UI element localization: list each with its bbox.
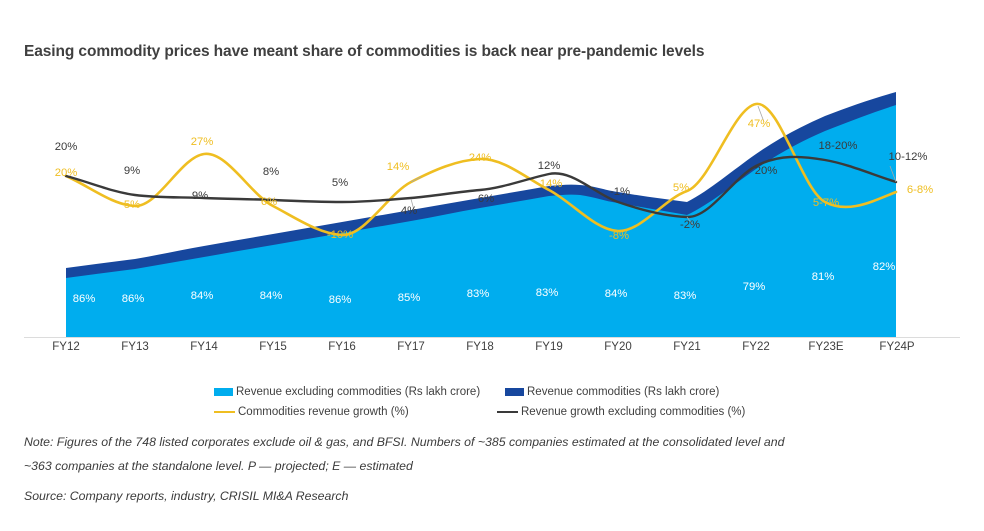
axis-tick-fy17: FY17 [397, 341, 425, 353]
axis-tick-fy24p: FY24P [879, 341, 914, 353]
legend-label: Commodities revenue growth (%) [238, 406, 409, 418]
chart-svg [0, 78, 984, 368]
page-title: Easing commodity prices have meant share… [24, 43, 704, 61]
axis-tick-fy20: FY20 [604, 341, 632, 353]
legend-item-revenue-growth-excluding-commodities[interactable]: Revenue growth excluding commodities (%) [497, 406, 745, 418]
legend-item-revenue-commodities[interactable]: Revenue commodities (Rs lakh crore) [505, 386, 719, 398]
chart-page: Easing commodity prices have meant share… [0, 0, 984, 531]
axis-tick-fy18: FY18 [466, 341, 494, 353]
legend-line-dark-icon [497, 411, 518, 413]
legend-label: Revenue excluding commodities (Rs lakh c… [236, 386, 480, 398]
axis-tick-fy14: FY14 [190, 341, 218, 353]
chart-canvas: 86% 86% 84% 84% 86% 85% 83% 83% 84% 83% … [0, 78, 984, 368]
axis-tick-fy23e: FY23E [808, 341, 843, 353]
legend-item-commodities-revenue-growth[interactable]: Commodities revenue growth (%) [214, 406, 409, 418]
leader-line-fy22-yellow [758, 106, 764, 122]
leader-line-fy17-yellow [411, 177, 421, 182]
legend-swatch-light-blue-icon [214, 388, 233, 396]
axis-tick-fy22: FY22 [742, 341, 770, 353]
note-line-1: Note: Figures of the 748 listed corporat… [24, 430, 954, 454]
axis-tick-fy15: FY15 [259, 341, 287, 353]
note-line-2: ~363 companies at the standalone level. … [24, 454, 954, 478]
legend-swatch-dark-blue-icon [505, 388, 524, 396]
axis-tick-fy21: FY21 [673, 341, 701, 353]
area-revenue-excluding-commodities [66, 105, 896, 337]
axis-tick-fy19: FY19 [535, 341, 563, 353]
legend-label: Revenue growth excluding commodities (%) [521, 406, 745, 418]
x-axis: FY12 FY13 FY14 FY15 FY16 FY17 FY18 FY19 … [0, 341, 984, 363]
leader-line-fy17-dark [411, 199, 414, 210]
source-line: Source: Company reports, industry, CRISI… [24, 484, 954, 508]
legend-line-yellow-icon [214, 411, 235, 413]
axis-tick-fy12: FY12 [52, 341, 80, 353]
chart-legend: Revenue excluding commodities (Rs lakh c… [0, 384, 984, 424]
footnotes: Note: Figures of the 748 listed corporat… [24, 430, 954, 508]
axis-tick-fy13: FY13 [121, 341, 149, 353]
legend-item-revenue-excluding-commodities[interactable]: Revenue excluding commodities (Rs lakh c… [214, 386, 480, 398]
axis-tick-fy16: FY16 [328, 341, 356, 353]
legend-label: Revenue commodities (Rs lakh crore) [527, 386, 719, 398]
